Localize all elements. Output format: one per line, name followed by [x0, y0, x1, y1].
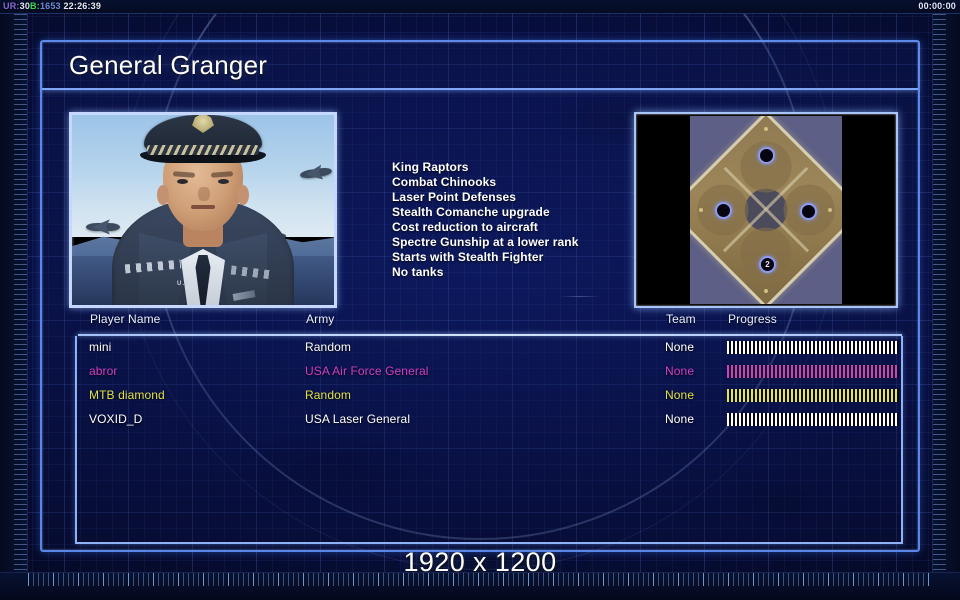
- cell-team: None: [665, 412, 694, 426]
- hud-match-timer: 00:00:00: [918, 1, 956, 11]
- map-preview-inner: 2: [638, 116, 894, 304]
- cell-army: Random: [305, 340, 351, 354]
- uniform-insignia-text: U.S.: [177, 281, 193, 287]
- progress-bar: [727, 389, 899, 402]
- cell-progress: [727, 413, 899, 426]
- hud-b-label: B:: [30, 1, 40, 11]
- table-row[interactable]: miniRandomNone: [77, 336, 901, 360]
- ruler-right-ticks: [933, 14, 946, 586]
- map-corner-marker: [764, 289, 768, 293]
- title-band: General Granger: [42, 42, 918, 90]
- cell-player-name: MTB diamond: [89, 388, 165, 402]
- portrait-ear-right: [237, 185, 249, 205]
- map-preview-canvas: 2: [690, 116, 842, 304]
- column-header-army: Army: [306, 312, 334, 326]
- cell-army: USA Laser General: [305, 412, 410, 426]
- ability-item: Starts with Stealth Fighter: [392, 250, 662, 265]
- column-header-progress: Progress: [728, 312, 777, 326]
- cell-progress: [727, 341, 899, 354]
- cell-army: USA Air Force General: [305, 364, 428, 378]
- map-terrain-diamond: [690, 116, 842, 304]
- map-corner-marker: [828, 208, 832, 212]
- ruler-right: [932, 14, 960, 586]
- map-start-position: [715, 202, 732, 219]
- portrait-nose: [198, 187, 210, 201]
- portrait-ear-left: [157, 185, 169, 205]
- cell-team: None: [665, 340, 694, 354]
- table-row[interactable]: abrorUSA Air Force GeneralNone: [77, 360, 901, 384]
- ruler-left-ticks: [14, 14, 27, 586]
- aircraft-icon: [86, 223, 120, 231]
- cell-progress: [727, 389, 899, 402]
- page-title: General Granger: [69, 50, 267, 81]
- portrait-mouth: [191, 205, 215, 209]
- ruler-top: [0, 0, 960, 14]
- cell-team: None: [665, 364, 694, 378]
- ability-item: Combat Chinooks: [392, 175, 662, 190]
- general-granger-portrait: U.S.: [72, 115, 334, 305]
- cell-team: None: [665, 388, 694, 402]
- column-header-team: Team: [666, 312, 696, 326]
- player-table-header: Player Name Army Team Progress: [78, 312, 898, 334]
- cell-progress: [727, 365, 899, 378]
- cell-player-name: VOXID_D: [89, 412, 142, 426]
- ability-item: Spectre Gunship at a lower rank: [392, 235, 662, 250]
- table-row[interactable]: MTB diamondRandomNone: [77, 384, 901, 408]
- progress-bar: [727, 341, 899, 354]
- main-panel: General Granger U.S.: [40, 40, 920, 552]
- ruler-left-ticks: [14, 14, 27, 586]
- hud-ur-label: UR:: [3, 1, 20, 11]
- portrait-eye-left: [177, 179, 188, 184]
- ability-item: King Raptors: [392, 160, 662, 175]
- player-table-body: miniRandomNoneabrorUSA Air Force General…: [75, 336, 903, 544]
- hud-b-value: 1653: [40, 1, 61, 11]
- cap-scrambled-egg-braid: [147, 145, 259, 155]
- map-preview-frame: 2: [634, 112, 898, 308]
- ruler-left: [0, 14, 28, 586]
- ability-item: No tanks: [392, 265, 662, 280]
- map-start-position: 2: [759, 256, 776, 273]
- cell-player-name: mini: [89, 340, 111, 354]
- hud-ur-value: 30: [20, 1, 30, 11]
- table-row[interactable]: VOXID_DUSA Laser GeneralNone: [77, 408, 901, 432]
- progress-bar: [727, 365, 899, 378]
- portrait-eye-right: [218, 179, 229, 184]
- hud-clock: 22:26:39: [63, 1, 101, 11]
- hud-debug-stats: UR:30B:1653 22:26:39: [3, 1, 101, 11]
- ability-item: Cost reduction to aircraft: [392, 220, 662, 235]
- general-ability-list: King Raptors Combat Chinooks Laser Point…: [392, 160, 662, 280]
- progress-bar: [727, 413, 899, 426]
- cell-army: Random: [305, 388, 351, 402]
- ability-item: Stealth Comanche upgrade: [392, 205, 662, 220]
- general-portrait-frame: U.S.: [69, 112, 337, 308]
- cell-player-name: abror: [89, 364, 118, 378]
- column-header-player-name: Player Name: [90, 312, 160, 326]
- map-start-position: [758, 147, 775, 164]
- resolution-label: 1920 x 1200: [0, 547, 960, 578]
- loading-screen: General Granger U.S.: [0, 0, 960, 600]
- ability-item: Laser Point Defenses: [392, 190, 662, 205]
